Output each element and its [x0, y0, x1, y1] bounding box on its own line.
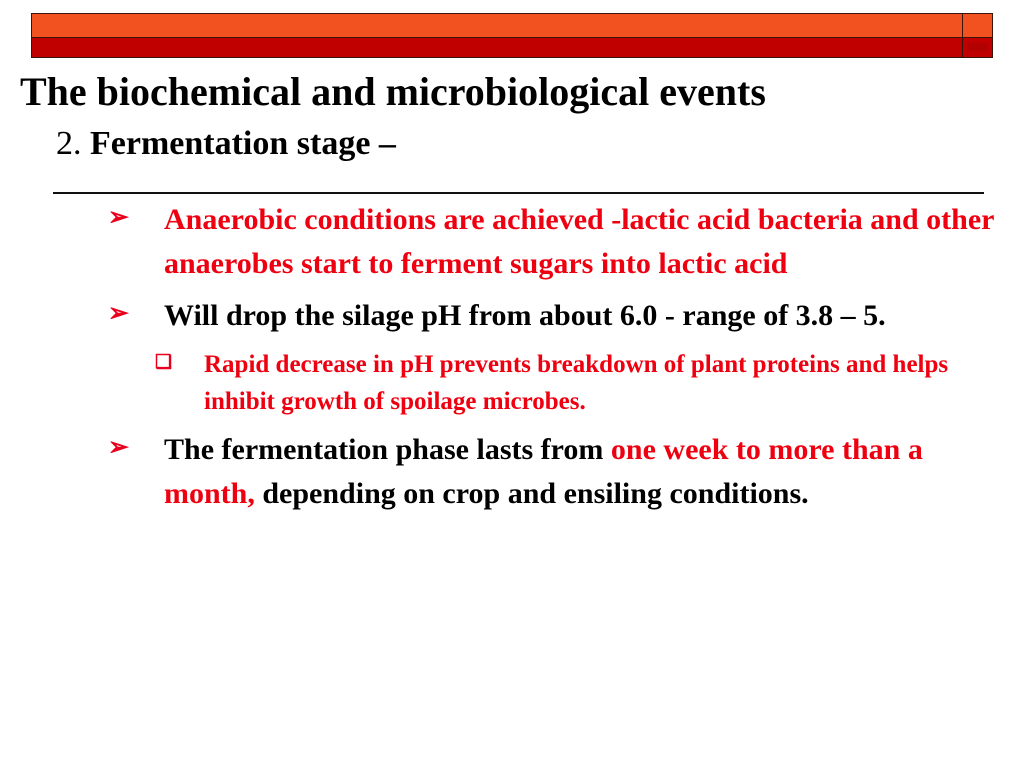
- subtitle-label: Fermentation stage –: [82, 125, 396, 162]
- page-subtitle: 2. Fermentation stage –: [56, 124, 396, 164]
- list-item: ➢ Anaerobic conditions are achieved -lac…: [0, 198, 1024, 286]
- bullet-list: ➢ Anaerobic conditions are achieved -lac…: [0, 198, 1024, 524]
- text-run: Anaerobic conditions are achieved -lacti…: [164, 203, 994, 280]
- title-divider-rule: [53, 192, 984, 194]
- header-bar-orange-row: [32, 14, 992, 38]
- header-bar-red-row: [32, 38, 992, 57]
- header-bar-orange-main: [32, 14, 962, 37]
- arrowhead-bullet-icon: ➢: [108, 294, 164, 326]
- text-run: depending on crop and ensiling condition…: [255, 477, 809, 510]
- page-title: The biochemical and microbiological even…: [20, 70, 1004, 114]
- subtitle-number: 2.: [56, 125, 82, 162]
- hollow-square-bullet-icon: ❑: [155, 346, 204, 372]
- text-run: Will drop the silage pH from about 6.0 -…: [164, 299, 886, 332]
- list-item-text: Will drop the silage pH from about 6.0 -…: [164, 294, 1000, 338]
- slide-canvas: The biochemical and microbiological even…: [0, 0, 1024, 768]
- list-item-text: The fermentation phase lasts from one we…: [164, 428, 1000, 516]
- header-bar-orange-cap: [962, 14, 992, 37]
- header-bar-red-main: [32, 38, 962, 57]
- arrowhead-bullet-icon: ➢: [108, 428, 164, 460]
- text-run: Rapid decrease in pH prevents breakdown …: [204, 351, 948, 415]
- list-item-text: Rapid decrease in pH prevents breakdown …: [204, 346, 984, 420]
- list-item-text: Anaerobic conditions are achieved -lacti…: [164, 198, 1000, 286]
- header-bar-red-cap: [962, 38, 992, 57]
- header-decoration-bars: [31, 13, 993, 58]
- list-item: ❑ Rapid decrease in pH prevents breakdow…: [0, 346, 1024, 420]
- list-item: ➢ The fermentation phase lasts from one …: [0, 428, 1024, 516]
- text-run: The fermentation phase lasts from: [164, 433, 611, 466]
- arrowhead-bullet-icon: ➢: [108, 198, 164, 230]
- list-item: ➢ Will drop the silage pH from about 6.0…: [0, 294, 1024, 338]
